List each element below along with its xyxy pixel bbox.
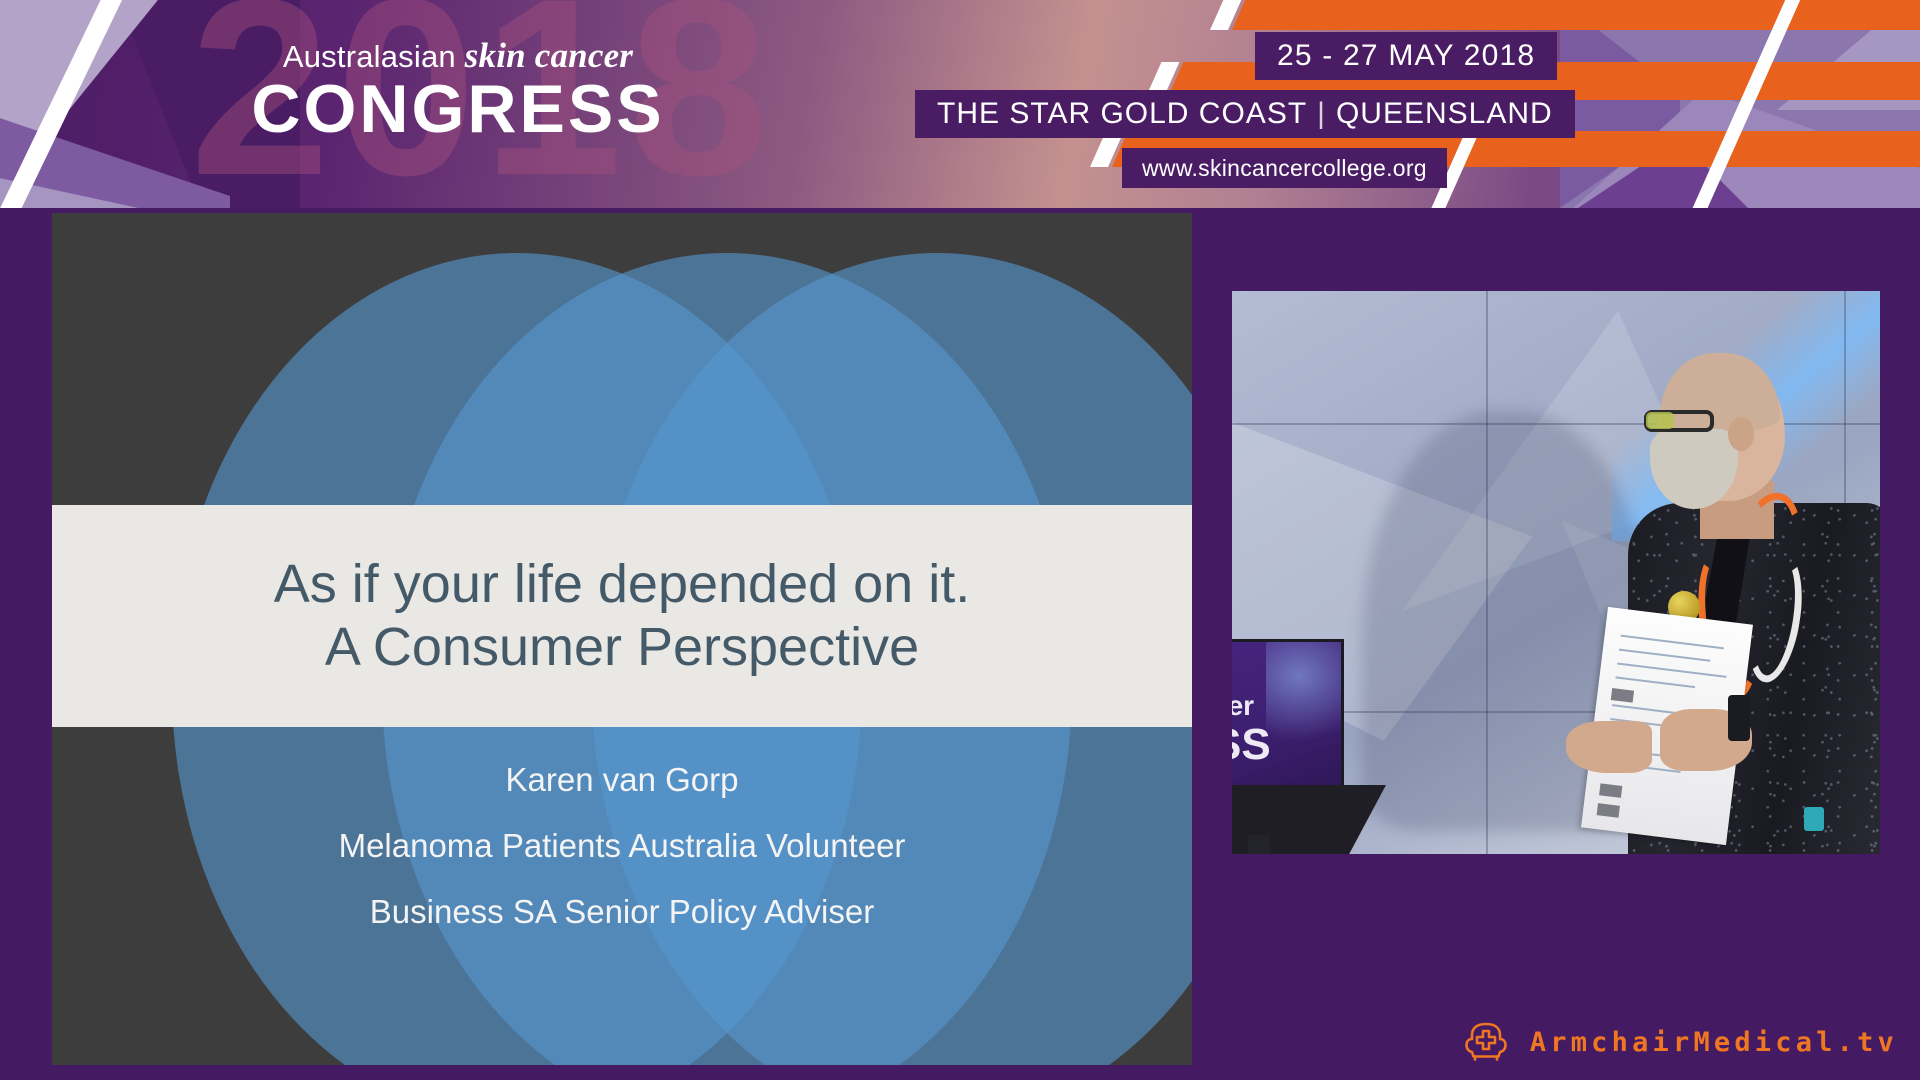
wall-grid-line-v3 [1486, 423, 1488, 854]
speaker-ear [1728, 417, 1754, 451]
brand-name[interactable]: ArmchairMedical.tv [1530, 1027, 1898, 1058]
slide-presenter-block: Karen van Gorp Melanoma Patients Austral… [52, 763, 1192, 961]
congress-logo-line1: Australasian skin cancer [248, 38, 668, 73]
congress-logo-congress: CONGRESS [248, 75, 668, 144]
congress-header-banner: 2018 Australasian skin cancer CONGRESS 2… [0, 0, 1920, 208]
white-stripe-right [1692, 0, 1803, 208]
slide-title-band: As if your life depended on it. A Consum… [52, 505, 1192, 727]
banner-venue-name: THE STAR GOLD COAST [937, 97, 1307, 131]
lectern-screen: cer SS [1232, 639, 1344, 789]
slide-title-line1: As if your life depended on it. [274, 553, 970, 616]
congress-logo-skin-cancer: skin cancer [465, 36, 633, 75]
speaker-figure [1532, 291, 1880, 854]
wall-grid-line-v1 [1486, 291, 1488, 423]
banner-website-url[interactable]: www.skincancercollege.org [1142, 155, 1427, 182]
banner-dates-text: 25 - 27 MAY 2018 [1277, 39, 1535, 73]
banner-venue-bar: THE STAR GOLD COAST | QUEENSLAND [915, 90, 1575, 138]
lectern: cer SS [1232, 639, 1396, 854]
brand-footer[interactable]: ArmchairMedical.tv [1464, 1019, 1898, 1066]
congress-logo-lockup: Australasian skin cancer CONGRESS [248, 38, 668, 144]
lectern-text-bottom: SS [1232, 720, 1271, 770]
banner-venue-state: QUEENSLAND [1336, 97, 1553, 131]
slide-affiliation-line1: Melanoma Patients Australia Volunteer [52, 829, 1192, 862]
speaker-video-panel[interactable]: cer SS [1232, 291, 1880, 854]
banner-venue-separator: | [1317, 97, 1326, 131]
glasses-lens [1646, 412, 1674, 429]
speaker-wristwatch [1728, 695, 1750, 741]
speaker-hand-left [1566, 721, 1652, 773]
armchair-medical-logo-icon [1464, 1019, 1508, 1066]
banner-dates-bar: 25 - 27 MAY 2018 [1255, 32, 1557, 80]
banner-website-bar[interactable]: www.skincancercollege.org [1122, 148, 1447, 188]
slide-title-line2: A Consumer Perspective [325, 616, 919, 679]
orange-band-top [1232, 0, 1920, 30]
presentation-slide: As if your life depended on it. A Consum… [52, 213, 1192, 1065]
lectern-post [1248, 835, 1270, 854]
stage-teal-object [1804, 807, 1824, 831]
congress-logo-australasian: Australasian [283, 39, 465, 74]
slide-presenter-name: Karen van Gorp [52, 763, 1192, 796]
lectern-screen-glow [1266, 639, 1344, 742]
lectern-text-top: cer [1232, 690, 1254, 722]
slide-affiliation-line2: Business SA Senior Policy Adviser [52, 895, 1192, 928]
presentation-stage: As if your life depended on it. A Consum… [0, 208, 1920, 1080]
